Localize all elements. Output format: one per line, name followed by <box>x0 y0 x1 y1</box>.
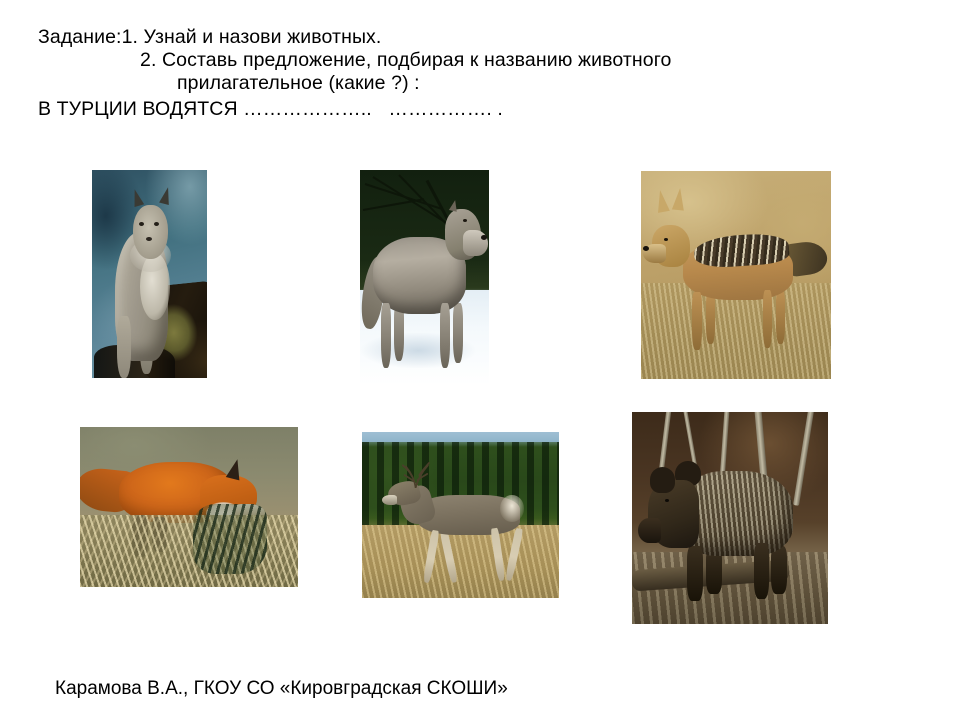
task-line-4-fill-in-blank: В ТУРЦИИ ВОДЯТСЯ ……………….. ……………. . <box>0 98 960 121</box>
boar-ear-left <box>650 467 675 492</box>
task-text-block: Задание:1. Узнай и назови животных. 2. С… <box>0 26 960 121</box>
animal-photo-boar <box>632 412 828 624</box>
task-line-1: Задание:1. Узнай и назови животных. <box>0 26 960 49</box>
deer-antlers <box>394 452 437 489</box>
author-credit: Карамова В.А., ГКОУ СО «Кировградская СК… <box>55 678 508 700</box>
lynx-head <box>133 205 168 259</box>
wolf-leg-hind-near <box>381 303 391 368</box>
jackal-leg-front-near <box>692 292 702 350</box>
lynx-nose <box>146 237 152 241</box>
jackal-eye <box>664 238 668 241</box>
animal-photo-deer <box>362 432 559 598</box>
animal-photo-lynx <box>92 170 207 378</box>
boar-leg-hind-near <box>754 543 770 598</box>
jackal-leg-front-far <box>706 292 716 344</box>
boar-leg-hind-far <box>771 546 787 595</box>
wolf-leg-front-near <box>440 303 450 368</box>
deer-snout <box>382 495 398 505</box>
deer-grass-ground <box>362 525 559 598</box>
lynx-front-leg <box>117 316 131 378</box>
wolf-nose <box>481 235 487 240</box>
jackal-leg-hind-near <box>763 290 773 348</box>
slide-canvas: Задание:1. Узнай и назови животных. 2. С… <box>0 0 960 720</box>
jackal-leg-hind-far <box>776 290 786 344</box>
wolf-leg-front-far <box>453 303 463 363</box>
task-line-3: прилагательное (какие ?) : <box>0 72 960 95</box>
animal-photo-fox <box>80 427 298 587</box>
animal-photo-wolf <box>360 170 489 385</box>
boar-leg-front-near <box>687 546 703 601</box>
deer-rump-patch <box>500 495 524 522</box>
animal-photo-jackal <box>641 171 831 379</box>
wolf-snow-shadow <box>360 333 489 367</box>
task-line-2: 2. Составь предложение, подбирая к назва… <box>0 49 960 72</box>
boar-snout <box>638 518 662 543</box>
jackal-nose <box>643 246 649 251</box>
fox-dark-weeds <box>193 504 267 574</box>
